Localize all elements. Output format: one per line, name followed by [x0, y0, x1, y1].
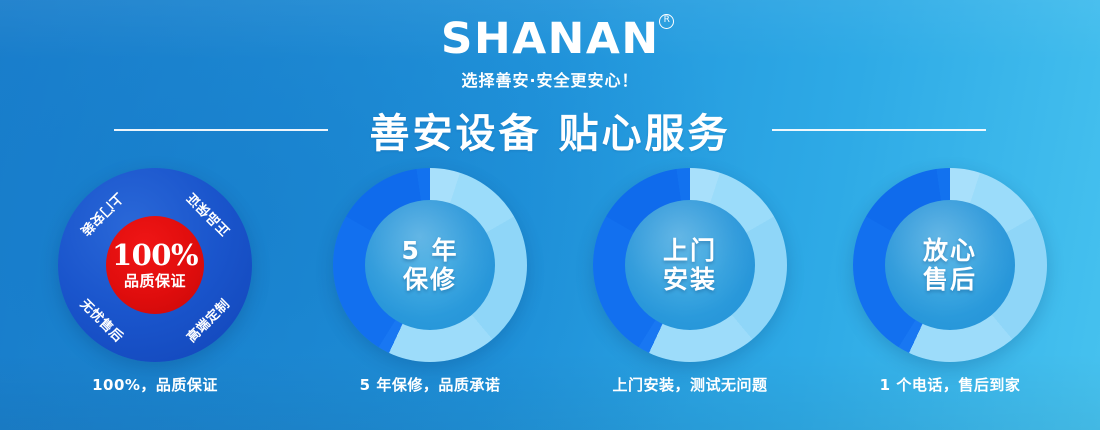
- service-promise-banner: SHANAN R 选择善安·安全更安心！ 善安设备 贴心服务 无忧售后 高端定制…: [0, 0, 1100, 430]
- logo-tagline: 选择善安·安全更安心！: [0, 67, 1100, 91]
- badge-percent-value: 100%: [112, 241, 198, 270]
- progress-ring: 上门 安装: [593, 168, 787, 362]
- ring-label-line2: 安装: [663, 265, 717, 294]
- caption-quality-guarantee: 100%，品质保证: [35, 374, 275, 395]
- badge-row: 无忧售后 高端定制 上门安装 正品保证 100% 品质保证 5 年 保修: [0, 168, 1100, 368]
- caption-row: 100%，品质保证 5 年保修，品质承诺 上门安装，测试无问题 1 个电话，售后…: [0, 374, 1100, 400]
- ring-label-line2: 保修: [403, 265, 457, 294]
- page-title: 善安设备 贴心服务: [370, 101, 731, 159]
- ring-center: 5 年 保修: [365, 200, 495, 330]
- caption-after-sales: 1 个电话，售后到家: [830, 374, 1070, 395]
- badge-disc: 无忧售后 高端定制 上门安装 正品保证 100% 品质保证: [58, 168, 252, 362]
- progress-ring: 5 年 保修: [333, 168, 527, 362]
- headline-row: 善安设备 贴心服务: [0, 100, 1100, 160]
- ring-center: 放心 售后: [885, 200, 1015, 330]
- logo-wordmark: SHANAN: [441, 18, 660, 61]
- badge-onsite-installation: 上门 安装: [593, 168, 787, 362]
- badge-after-sales: 放心 售后: [853, 168, 1047, 362]
- badge-quality-guarantee: 无忧售后 高端定制 上门安装 正品保证 100% 品质保证: [58, 168, 252, 362]
- caption-warranty: 5 年保修，品质承诺: [310, 374, 550, 395]
- ring-center: 上门 安装: [625, 200, 755, 330]
- registered-trademark-icon: R: [659, 14, 674, 29]
- ring-label-line2: 售后: [923, 265, 977, 294]
- ring-label-line1: 放心: [923, 236, 977, 265]
- ring-label-line1: 上门: [663, 236, 717, 265]
- decorative-rule-left: [114, 129, 328, 131]
- caption-onsite-installation: 上门安装，测试无问题: [570, 374, 810, 395]
- logo-wordmark-wrapper: SHANAN R: [443, 18, 658, 61]
- badge-percent-label: 品质保证: [124, 274, 186, 289]
- progress-ring: 放心 售后: [853, 168, 1047, 362]
- brand-logo: SHANAN R 选择善安·安全更安心！: [0, 18, 1100, 91]
- ring-label-line1: 5 年: [401, 236, 458, 265]
- decorative-rule-right: [772, 129, 986, 131]
- badge-warranty: 5 年 保修: [333, 168, 527, 362]
- badge-core: 100% 品质保证: [106, 216, 204, 314]
